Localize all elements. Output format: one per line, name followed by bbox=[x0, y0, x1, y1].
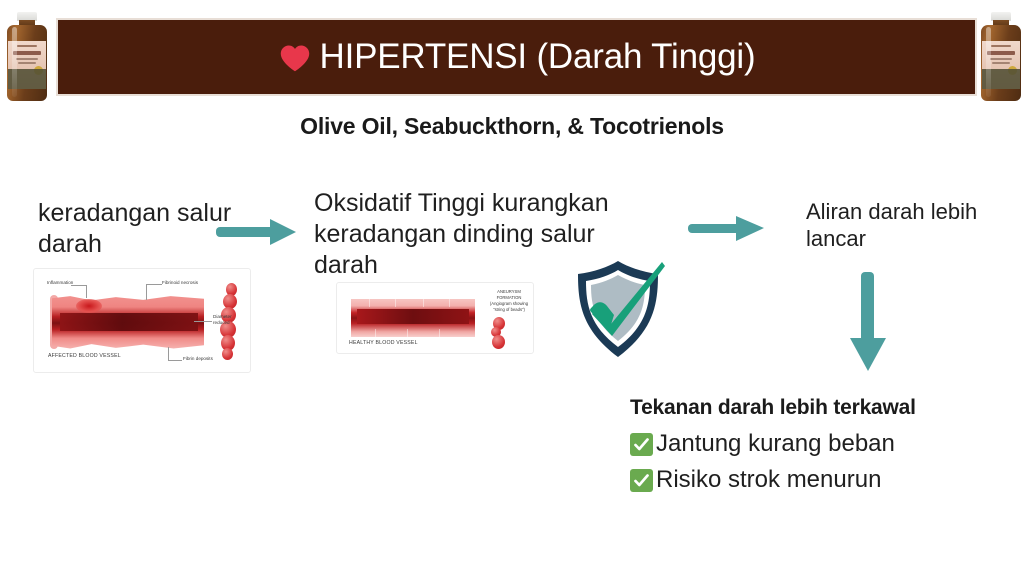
shield-check-icon bbox=[566, 258, 670, 360]
label-sub-line bbox=[16, 58, 38, 60]
caption-affected-blood-vessel: AFFECTED BLOOD VESSEL bbox=[48, 353, 121, 360]
label-diameter-reduced: Diameter reduced bbox=[213, 314, 243, 325]
label-name-line bbox=[987, 51, 1015, 55]
bottle-highlight bbox=[12, 27, 17, 97]
caption-healthy-blood-vessel: HEALTHY BLOOD VESSEL bbox=[349, 340, 418, 347]
label-aneurysm-formation: ANEURYSM FORMATION (Angiogram showing "s… bbox=[487, 289, 531, 313]
vessel-lumen bbox=[60, 313, 198, 331]
vessel-lumen bbox=[357, 309, 469, 324]
result-heading: Tekanan darah lebih terkawal bbox=[630, 396, 1010, 420]
bottle-body bbox=[981, 25, 1021, 101]
list-item: Jantung kurang beban bbox=[630, 430, 1010, 458]
vessel-striation bbox=[449, 299, 450, 307]
vessel-striation bbox=[375, 329, 376, 337]
label-inflammation: Inflammation bbox=[47, 280, 73, 286]
leader-line bbox=[168, 360, 182, 361]
label-fibrinoid-necrosis: Fibrinoid necrosis bbox=[162, 280, 198, 286]
leader-line bbox=[168, 347, 169, 361]
inflammation-hotspot bbox=[76, 299, 102, 313]
bead bbox=[492, 335, 505, 349]
bead bbox=[222, 348, 233, 360]
bottle-highlight bbox=[986, 27, 991, 97]
label-sub-line-2 bbox=[992, 62, 1010, 64]
string-of-beads-illustration bbox=[489, 317, 509, 351]
label-sub-line-2 bbox=[18, 62, 36, 64]
label-aneurysm-line-4: "string of beads") bbox=[487, 307, 531, 313]
leader-line bbox=[71, 285, 87, 286]
heart-icon bbox=[278, 41, 312, 75]
leader-line bbox=[194, 321, 212, 322]
header-banner: HIPERTENSI (Darah Tinggi) bbox=[58, 20, 975, 94]
subtitle: Olive Oil, Seabuckthorn, & Tocotrienols bbox=[0, 113, 1024, 140]
flow-step-1-label: keradangan salur darah bbox=[38, 198, 238, 260]
affected-vessel-illustration: Inflammation Fibrinoid necrosis Diameter… bbox=[34, 269, 250, 372]
label-fibrin-deposits: Fibrin deposits bbox=[183, 356, 213, 362]
vessel-striation bbox=[423, 299, 424, 307]
page-title: HIPERTENSI (Darah Tinggi) bbox=[278, 37, 756, 77]
arrow-right-icon bbox=[688, 213, 768, 248]
healthy-vessel-illustration: ANEURYSM FORMATION (Angiogram showing "s… bbox=[337, 283, 533, 353]
leader-line bbox=[146, 284, 162, 285]
product-bottle-right bbox=[978, 12, 1024, 102]
label-sub-line bbox=[990, 58, 1012, 60]
label-brand-line bbox=[17, 45, 37, 47]
label-name-line bbox=[13, 51, 41, 55]
list-item-label: Risiko strok menurun bbox=[656, 466, 881, 494]
result-benefits-list: Jantung kurang beban Risiko strok menuru… bbox=[630, 430, 1010, 503]
page-title-text: HIPERTENSI (Darah Tinggi) bbox=[320, 37, 756, 77]
leader-line bbox=[146, 284, 147, 300]
list-item-label: Jantung kurang beban bbox=[656, 430, 895, 458]
arrow-down-icon bbox=[848, 272, 888, 379]
arrow-right-icon bbox=[216, 217, 298, 252]
list-item: Risiko strok menurun bbox=[630, 466, 1010, 494]
vessel-striation bbox=[407, 329, 408, 337]
bottle-body bbox=[7, 25, 47, 101]
vessel-striation bbox=[395, 299, 396, 307]
diagram-healthy-blood-vessel: ANEURYSM FORMATION (Angiogram showing "s… bbox=[336, 282, 534, 354]
vessel-striation bbox=[439, 329, 440, 337]
label-brand-line bbox=[991, 45, 1011, 47]
leader-line bbox=[86, 285, 87, 298]
flow-step-3-label: Aliran darah lebih lancar bbox=[806, 198, 986, 253]
label-aneurysm-line-3: (Angiogram showing bbox=[487, 301, 531, 307]
slide-canvas: HIPERTENSI (Darah Tinggi) Olive Oil, Sea… bbox=[0, 0, 1024, 576]
check-square-icon bbox=[630, 469, 653, 492]
diagram-affected-blood-vessel: Inflammation Fibrinoid necrosis Diameter… bbox=[33, 268, 251, 373]
product-bottle-left bbox=[4, 12, 50, 102]
check-square-icon bbox=[630, 433, 653, 456]
vessel-striation bbox=[369, 299, 370, 307]
